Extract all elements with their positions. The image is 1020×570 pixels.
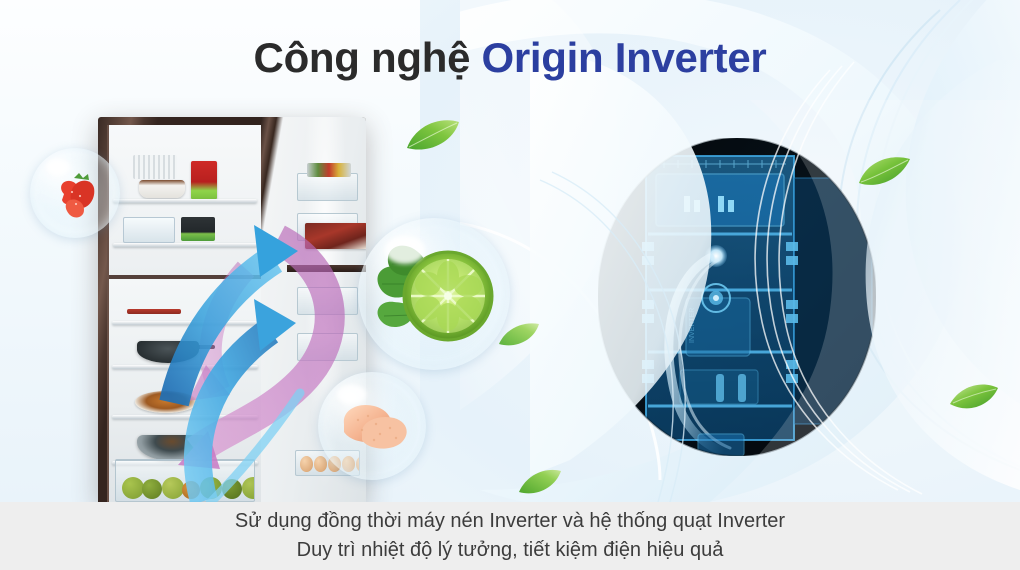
fridge-compartment [109, 279, 261, 502]
fridge-shelf [112, 365, 258, 369]
vegetable [162, 477, 184, 499]
food-item-bowl [139, 180, 185, 198]
fridge-shelf [112, 321, 258, 325]
freezer-shelf [113, 243, 257, 247]
door-bin [297, 173, 358, 201]
vegetable [182, 481, 200, 499]
freezer-shelf [113, 199, 257, 203]
leaf-icon [858, 155, 912, 194]
vegetable [200, 477, 222, 499]
vegetable [242, 477, 255, 499]
fridge-shelf [112, 415, 258, 419]
freezer-compartment [109, 125, 261, 279]
vegetable [142, 479, 162, 499]
title-part-highlight: Origin Inverter [482, 34, 767, 81]
door-divider [287, 265, 366, 272]
door-bin [297, 287, 358, 315]
leaf-icon [405, 118, 461, 159]
crisper-drawer [115, 459, 255, 502]
freezer-vent-icon [133, 155, 177, 179]
egg [300, 456, 313, 472]
food-item-tub [181, 217, 215, 241]
bubble-lime-mint [358, 218, 510, 370]
vegetable [222, 479, 242, 499]
food-item-pan [137, 341, 199, 363]
caption-line-2: Duy trì nhiệt độ lý tưởng, tiết kiệm điệ… [297, 536, 724, 565]
food-item-plate [135, 391, 197, 413]
fridge-cabinet [107, 125, 261, 502]
svg-text:INVERTER: INVERTER [689, 308, 696, 343]
door-food-package [307, 163, 351, 177]
page-title: Công nghệ Origin Inverter [0, 34, 1020, 82]
leaf-icon [518, 468, 562, 503]
bubble-strawberry [30, 148, 120, 238]
vegetable [122, 477, 144, 499]
inverter-compressor-panel: INVERTER [598, 138, 876, 456]
door-bin [297, 333, 358, 361]
ice-tray [123, 217, 175, 243]
bubble-meat [318, 372, 426, 480]
title-part-dark: Công nghệ [254, 34, 482, 81]
food-item-package [191, 161, 217, 199]
leaf-icon [948, 382, 1000, 421]
food-item-steel-bowl [137, 435, 207, 461]
door-food-package [305, 223, 366, 249]
caption-bar: Sử dụng đồng thời máy nén Inverter và hệ… [0, 502, 1020, 570]
promo-banner: INVERTER [0, 0, 1020, 570]
food-item-chopsticks [127, 309, 181, 314]
caption-line-1: Sử dụng đồng thời máy nén Inverter và hệ… [235, 507, 785, 536]
